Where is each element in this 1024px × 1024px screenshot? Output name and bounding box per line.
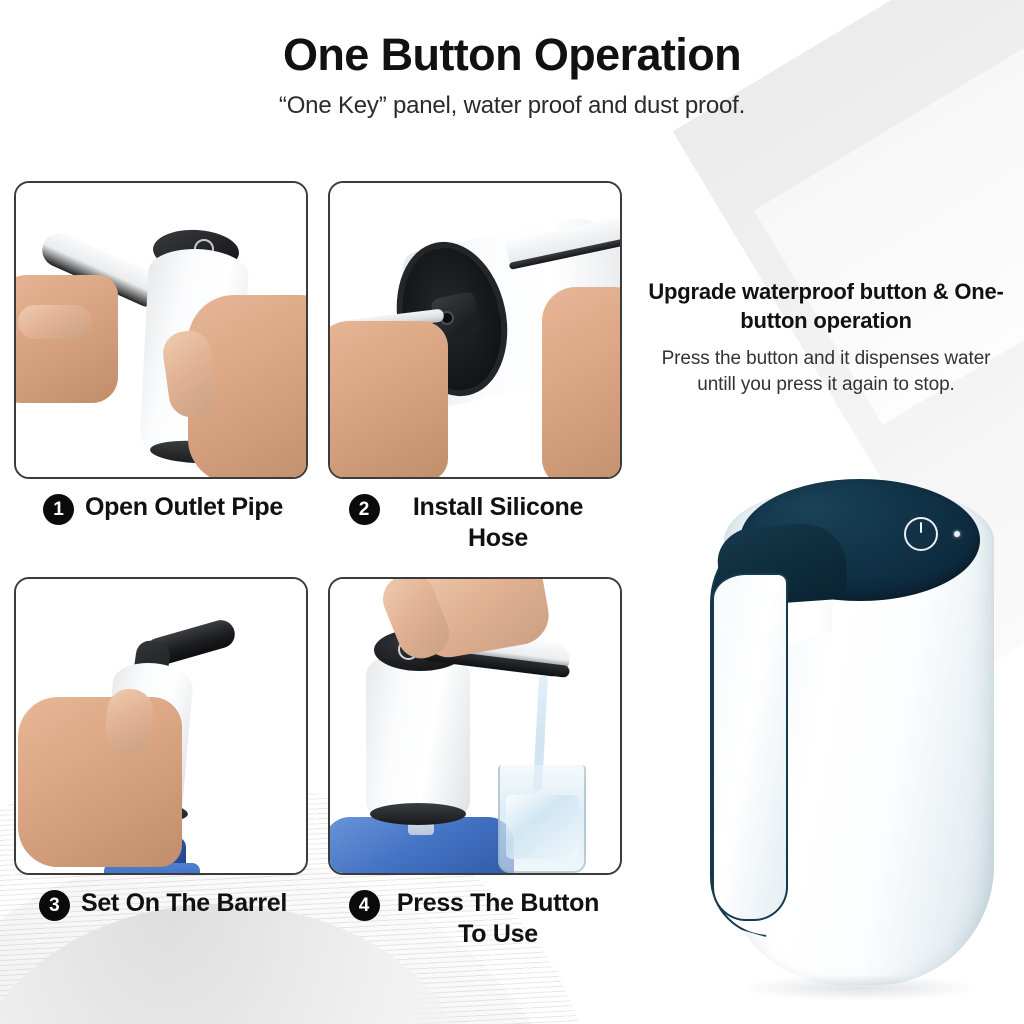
hero-product-image [700,455,1010,995]
steps-row-top: 1 Open Outlet Pipe [14,181,626,553]
hero-spout-face [712,573,788,921]
steps-grid: 1 Open Outlet Pipe [14,181,626,949]
step-4-caption: 4 Press The Button To Use [328,875,626,949]
step-2-badge: 2 [349,494,380,525]
step-4: 4 Press The Button To Use [328,577,626,949]
scene-set-on-barrel [16,579,306,873]
step-3: 3 Set On The Barrel [14,577,312,949]
step-2: 2 Install Silicone Hose [328,181,626,553]
hero-shadow [740,975,980,1001]
step-1-label: Open Outlet Pipe [85,492,283,523]
scene-install-silicone-hose [330,183,620,477]
led-indicator-icon [954,531,960,537]
left-hand-finger [18,305,92,339]
step-4-badge: 4 [349,890,380,921]
holding-hand [18,697,182,867]
step-3-label: Set On The Barrel [81,888,287,919]
step-4-photo [328,577,622,875]
page-subtitle: “One Key” panel, water proof and dust pr… [0,78,1024,120]
left-hand [14,275,118,403]
step-1-badge: 1 [43,494,74,525]
steps-row-bottom: 3 Set On The Barrel [14,577,626,949]
power-icon[interactable] [904,517,938,551]
step-4-label: Press The Button To Use [391,888,606,949]
step-1-caption: 1 Open Outlet Pipe [14,479,312,525]
infographic-page: One Button Operation “One Key” panel, wa… [0,0,1024,1024]
step-2-caption: 2 Install Silicone Hose [328,479,626,553]
right-hand [542,287,622,479]
ice-in-glass [506,795,578,859]
feature-text-block: Upgrade waterproof button & One-button o… [640,278,1012,397]
step-1-photo [14,181,308,479]
step-3-photo [14,577,308,875]
dispenser-body [366,649,470,817]
step-3-badge: 3 [39,890,70,921]
feature-heading: Upgrade waterproof button & One-button o… [640,278,1012,335]
left-hand [328,321,448,479]
feature-body: Press the button and it dispenses water … [640,335,1012,397]
step-3-caption: 3 Set On The Barrel [14,875,312,921]
dispenser-base [370,803,466,825]
scene-press-button [330,579,620,873]
page-title: One Button Operation [0,0,1024,78]
header: One Button Operation “One Key” panel, wa… [0,0,1024,120]
step-2-photo [328,181,622,479]
step-1: 1 Open Outlet Pipe [14,181,312,553]
step-2-label: Install Silicone Hose [391,492,606,553]
scene-open-outlet-pipe [16,183,306,477]
